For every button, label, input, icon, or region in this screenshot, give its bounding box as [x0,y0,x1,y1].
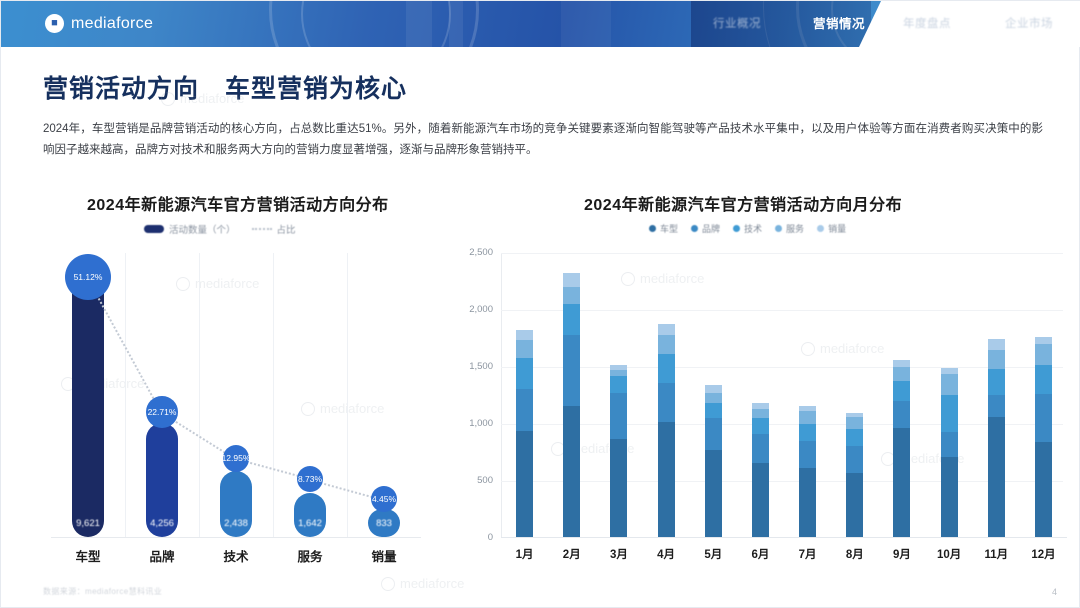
x-label-4: 销量 [347,546,421,565]
left-chart-title: 2024年新能源汽车官方营销活动方向分布 [87,191,389,215]
bar-value-label: 833 [368,518,400,529]
axis-baseline [51,537,421,538]
segment-品牌 [846,446,863,473]
segment-品牌 [563,335,580,406]
segment-品牌 [988,395,1005,418]
segment-服务 [799,411,816,424]
segment-销量 [752,403,769,410]
legend-label: 品牌 [702,222,720,235]
legend-dot-icon [649,225,656,232]
legend-dot-icon [733,225,740,232]
segment-车型 [1035,442,1052,537]
segment-服务 [752,409,769,418]
x-label-11: 12月 [1020,546,1067,562]
segment-服务 [988,350,1005,369]
x-label-8: 9月 [878,546,925,562]
stacked-bar-8月 [846,413,863,537]
segment-车型 [705,450,722,537]
segment-技术 [893,381,910,402]
y-tick-label: 2,000 [433,304,493,315]
legend-dot-icon [691,225,698,232]
legend-swatch-icon [144,225,164,233]
header-band [406,1,432,47]
segment-品牌 [705,418,722,450]
page-title: 营销活动方向车型营销为核心 [43,69,407,105]
gridline [199,253,200,538]
gridline [347,253,348,538]
y-tick-label: 1,000 [433,418,493,429]
gridline [125,253,126,538]
nav-tab-marketing[interactable]: 营销情况 [813,1,865,47]
segment-品牌 [658,383,675,422]
y-tick-label: 500 [433,475,493,486]
left-chart-plot: 9,6214,2562,4381,64283351.12%22.71%12.95… [51,253,421,538]
gridline [501,253,1063,254]
segment-销量 [658,324,675,335]
source-note: 数据来源：mediaforce慧科讯业 [43,586,162,597]
legend-item-销量: 销量 [817,222,846,235]
stacked-bar-3月 [610,365,627,537]
stacked-bar-5月 [705,385,722,537]
right-chart-bars [501,253,1063,538]
segment-车型 [988,417,1005,537]
legend-item-服务: 服务 [775,222,804,235]
y-tick-label: 2,500 [433,247,493,258]
bar-value-label: 9,621 [72,518,104,529]
gridline [273,253,274,538]
stacked-bar-4月 [658,324,675,537]
y-tick-label: 0 [433,532,493,543]
legend-dot-icon [775,225,782,232]
stacked-bar-2月 [563,273,580,537]
segment-品牌 [941,432,958,457]
legend-label: 车型 [660,222,678,235]
segment-销量 [988,339,1005,350]
segment-服务 [893,367,910,381]
bar-车型: 9,621 [72,278,104,537]
bar-value-label: 1,642 [294,518,326,529]
segment-品牌 [516,389,533,431]
right-chart-legend: 车型品牌技术服务销量 [649,222,846,235]
stacked-bar-10月 [941,368,958,537]
segment-销量 [516,330,533,340]
page-number: 4 [1052,587,1057,597]
bar-销量: 833 [368,509,400,537]
legend-label: 技术 [744,222,762,235]
x-label-7: 8月 [831,546,878,562]
segment-品牌 [893,401,910,427]
segment-技术 [988,369,1005,395]
x-label-1: 2月 [548,546,595,562]
brand-wordmark: mediaforce [71,15,153,33]
legend-dot-icon [817,225,824,232]
segment-销量 [705,385,722,393]
stacked-bar-9月 [893,360,910,537]
stacked-bar-7月 [799,406,816,537]
nav-tab-industry[interactable]: 行业概况 [713,1,761,47]
segment-技术 [516,358,533,389]
share-bubble-服务: 8.73% [297,466,323,492]
segment-服务 [941,374,958,395]
nav-tab-annual[interactable]: 年度盘点 [903,1,951,47]
segment-车型 [752,463,769,537]
segment-技术 [752,418,769,434]
watermark: mediaforce [381,576,464,591]
right-chart-title: 2024年新能源汽车官方营销活动方向月分布 [584,191,902,215]
gridline [501,481,1063,482]
left-chart-legend: 活动数量（个） 占比 [144,222,296,236]
bar-技术: 2,438 [220,471,252,537]
right-chart-xaxis: 1月2月3月4月5月6月7月8月9月10月11月12月 [501,546,1067,562]
x-label-0: 1月 [501,546,548,562]
segment-车型 [563,406,580,537]
right-chart-plot: 05001,0001,5002,0002,500 [467,253,1067,538]
segment-品牌 [799,441,816,468]
segment-技术 [1035,365,1052,394]
header-band [561,1,611,47]
x-label-3: 服务 [273,546,347,565]
x-label-6: 7月 [784,546,831,562]
legend-item-品牌: 品牌 [691,222,720,235]
left-chart-xaxis: 车型 品牌 技术 服务 销量 [51,546,421,565]
segment-品牌 [1035,394,1052,442]
segment-技术 [705,403,722,419]
m-logo-icon: ■ [45,14,64,33]
y-tick-label: 1,500 [433,361,493,372]
brand-logo: ■ mediaforce [45,14,153,33]
segment-服务 [1035,344,1052,365]
share-bubble-技术: 12.95% [223,445,250,472]
stacked-bar-1月 [516,330,533,537]
x-label-5: 6月 [737,546,784,562]
page-title-sub: 车型营销为核心 [225,75,407,103]
segment-销量 [893,360,910,367]
legend-item-share: 占比 [252,222,296,236]
segment-技术 [610,376,627,393]
share-bubble-品牌: 22.71% [146,396,178,428]
segment-车型 [516,431,533,537]
gridline [501,310,1063,311]
segment-车型 [658,422,675,537]
segment-销量 [563,273,580,287]
x-label-1: 品牌 [125,546,199,565]
segment-服务 [846,417,863,428]
x-label-2: 3月 [595,546,642,562]
bar-value-label: 4,256 [146,518,178,529]
segment-车型 [799,468,816,537]
gridline [501,367,1063,368]
legend-dash-icon [252,228,272,230]
x-label-2: 技术 [199,546,273,565]
bar-value-label: 2,438 [220,518,252,529]
segment-服务 [658,335,675,353]
segment-品牌 [752,434,769,463]
header-band [449,1,463,47]
segment-销量 [1035,337,1052,344]
segment-技术 [941,395,958,433]
gridline [501,424,1063,425]
segment-服务 [516,340,533,358]
segment-车型 [893,428,910,537]
wheel-arc-icon [269,1,479,47]
segment-车型 [941,457,958,537]
segment-车型 [846,473,863,537]
legend-item-车型: 车型 [649,222,678,235]
segment-服务 [563,287,580,304]
x-label-0: 车型 [51,546,125,565]
slide-root: ■ mediaforce 行业概况 营销情况 年度盘点 企业市场 营销活动方向车… [0,0,1080,608]
stacked-bar-6月 [752,403,769,537]
share-bubble-销量: 4.45% [371,486,397,512]
segment-技术 [563,304,580,335]
x-label-3: 4月 [643,546,690,562]
bar-品牌: 4,256 [146,423,178,537]
legend-label: 服务 [786,222,804,235]
bar-服务: 1,642 [294,493,326,537]
segment-品牌 [610,393,627,439]
slide-header: ■ mediaforce 行业概况 营销情况 年度盘点 企业市场 [1,1,1080,47]
page-title-main: 营销活动方向 [43,75,199,103]
stacked-bar-12月 [1035,337,1052,537]
x-label-4: 5月 [690,546,737,562]
nav-tab-enterprise[interactable]: 企业市场 [1005,1,1053,47]
x-label-10: 11月 [973,546,1020,562]
x-label-9: 10月 [926,546,973,562]
stacked-bar-11月 [988,339,1005,537]
summary-paragraph: 2024年，车型营销是品牌营销活动的核心方向，占总数比重达51%。另外，随着新能… [43,119,1043,161]
legend-label: 销量 [828,222,846,235]
segment-技术 [658,354,675,384]
legend-item-count: 活动数量（个） [144,222,236,236]
legend-item-技术: 技术 [733,222,762,235]
share-bubble-车型: 51.12% [65,254,111,300]
segment-车型 [610,439,627,537]
segment-服务 [705,393,722,402]
segment-技术 [799,424,816,441]
segment-技术 [846,429,863,446]
